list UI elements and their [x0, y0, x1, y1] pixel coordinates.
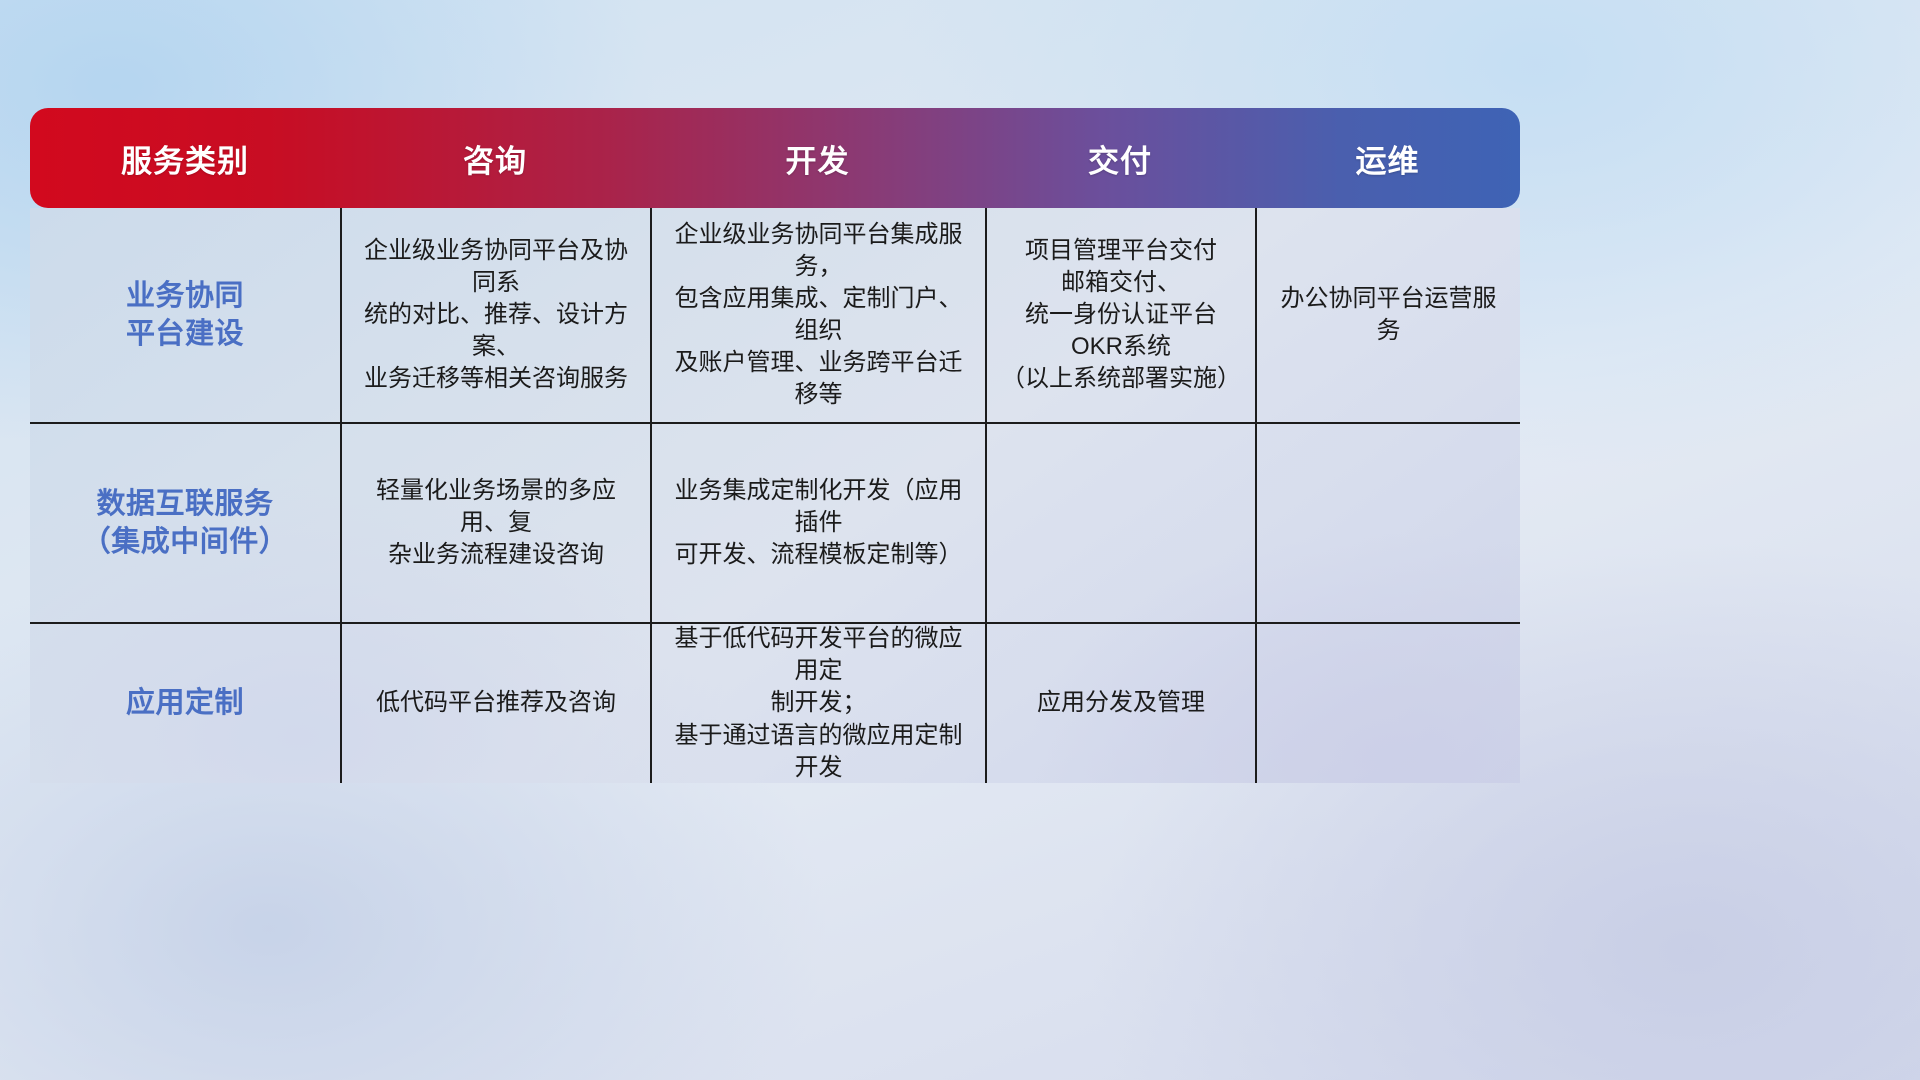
row-label-cell: 数据互联服务 （集成中间件） [30, 424, 340, 622]
cell-development: 企业级业务协同平台集成服务， 包含应用集成、定制门户、组织 及账户管理、业务跨平… [650, 208, 985, 422]
cell-development: 业务集成定制化开发（应用插件 可开发、流程模板定制等） [650, 424, 985, 622]
row-label-cell: 应用定制 [30, 624, 340, 783]
cell-text: 基于低代码开发平台的微应用定 制开发； 基于通过语言的微应用定制开发 [664, 623, 973, 784]
row-label-text: 业务协同 平台建设 [126, 277, 244, 354]
cell-operations [1255, 424, 1520, 622]
cell-delivery: 项目管理平台交付 邮箱交付、 统一身份认证平台 OKR系统 （以上系统部署实施） [985, 208, 1255, 422]
table-header-row: 服务类别 咨询 开发 交付 运维 [30, 108, 1520, 208]
cell-text: 轻量化业务场景的多应用、复 杂业务流程建设咨询 [354, 475, 638, 571]
header-cell-operations: 运维 [1255, 136, 1520, 181]
cell-development: 基于低代码开发平台的微应用定 制开发； 基于通过语言的微应用定制开发 [650, 624, 985, 783]
cell-text: 企业级业务协同平台及协同系 统的对比、推荐、设计方案、 业务迁移等相关咨询服务 [354, 235, 638, 396]
header-cell-development: 开发 [650, 136, 985, 181]
cell-text: 办公协同平台运营服务 [1269, 283, 1508, 347]
header-cell-service-category: 服务类别 [30, 136, 340, 181]
table-row: 应用定制 低代码平台推荐及咨询 基于低代码开发平台的微应用定 制开发； 基于通过… [30, 624, 1520, 783]
cell-consulting: 低代码平台推荐及咨询 [340, 624, 650, 783]
cell-text: 低代码平台推荐及咨询 [376, 687, 616, 719]
row-label-text: 数据互联服务 （集成中间件） [82, 485, 289, 562]
table-body: 业务协同 平台建设 企业级业务协同平台及协同系 统的对比、推荐、设计方案、 业务… [30, 208, 1520, 783]
header-cell-consulting: 咨询 [340, 136, 650, 181]
cell-consulting: 轻量化业务场景的多应用、复 杂业务流程建设咨询 [340, 424, 650, 622]
cell-operations [1255, 624, 1520, 783]
cell-text: 业务集成定制化开发（应用插件 可开发、流程模板定制等） [664, 475, 973, 571]
slide-canvas: 服务类别 咨询 开发 交付 运维 业务协同 平台建设 企业级业务协同平台及协同系… [0, 0, 1920, 1080]
cell-text: 项目管理平台交付 邮箱交付、 统一身份认证平台 OKR系统 （以上系统部署实施） [1001, 235, 1241, 396]
cell-text: 应用分发及管理 [1037, 687, 1205, 719]
cell-operations: 办公协同平台运营服务 [1255, 208, 1520, 422]
cell-delivery [985, 424, 1255, 622]
row-label-text: 应用定制 [126, 684, 244, 722]
service-matrix-table: 服务类别 咨询 开发 交付 运维 业务协同 平台建设 企业级业务协同平台及协同系… [30, 108, 1520, 783]
table-row: 数据互联服务 （集成中间件） 轻量化业务场景的多应用、复 杂业务流程建设咨询 业… [30, 424, 1520, 624]
table-row: 业务协同 平台建设 企业级业务协同平台及协同系 统的对比、推荐、设计方案、 业务… [30, 208, 1520, 424]
row-label-cell: 业务协同 平台建设 [30, 208, 340, 422]
cell-text: 企业级业务协同平台集成服务， 包含应用集成、定制门户、组织 及账户管理、业务跨平… [664, 219, 973, 412]
cell-consulting: 企业级业务协同平台及协同系 统的对比、推荐、设计方案、 业务迁移等相关咨询服务 [340, 208, 650, 422]
header-cell-delivery: 交付 [985, 136, 1255, 181]
cell-delivery: 应用分发及管理 [985, 624, 1255, 783]
